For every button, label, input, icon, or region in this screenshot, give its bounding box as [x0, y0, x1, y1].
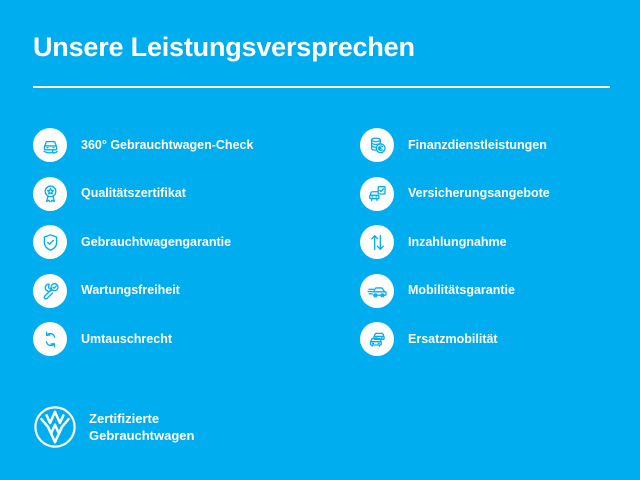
benefit-label: Gebrauchtwagengarantie [81, 235, 231, 250]
benefit-item-gebrauchtwagengarantie[interactable]: Gebrauchtwagengarantie [33, 225, 343, 259]
benefit-item-mobilitaetsgarantie[interactable]: Mobilitätsgarantie [360, 274, 630, 308]
benefit-label: Wartungsfreiheit [81, 283, 180, 298]
car-document-check-icon [360, 177, 394, 211]
header-divider [33, 86, 610, 88]
benefits-column-right: Finanzdienstleistungen Versicherungsange… [360, 128, 630, 371]
benefit-item-qualitaetszertifikat[interactable]: Qualitätszertifikat [33, 177, 343, 211]
benefit-item-inzahlungnahme[interactable]: Inzahlungnahme [360, 225, 630, 259]
page-title: Unsere Leistungsversprechen [33, 30, 610, 64]
wrench-check-icon [33, 274, 67, 308]
exchange-arrows-icon [33, 322, 67, 356]
brand-text-line2: Gebrauchtwagen [89, 428, 194, 443]
promo-panel: Unsere Leistungsversprechen 360° Gebrauc… [0, 0, 640, 480]
shield-check-icon [33, 225, 67, 259]
benefit-label: Versicherungsangebote [408, 186, 550, 201]
benefit-item-ersatzmobilitaet[interactable]: Ersatzmobilität [360, 322, 630, 356]
benefit-item-360-check[interactable]: 360° Gebrauchtwagen-Check [33, 128, 343, 162]
header: Unsere Leistungsversprechen [33, 30, 610, 64]
benefit-label: Umtauschrecht [81, 332, 172, 347]
benefit-item-wartungsfreiheit[interactable]: Wartungsfreiheit [33, 274, 343, 308]
benefit-item-versicherungsangebote[interactable]: Versicherungsangebote [360, 177, 630, 211]
benefit-label: 360° Gebrauchtwagen-Check [81, 138, 253, 153]
benefit-item-finanzdienstleistungen[interactable]: Finanzdienstleistungen [360, 128, 630, 162]
benefit-label: Mobilitätsgarantie [408, 283, 515, 298]
brand-text-line1: Zertifizierte [89, 411, 159, 426]
arrows-up-down-icon [360, 225, 394, 259]
benefit-label: Qualitätszertifikat [81, 186, 186, 201]
car-360-check-icon [33, 128, 67, 162]
benefit-label: Finanzdienstleistungen [408, 138, 547, 153]
benefit-label: Ersatzmobilität [408, 332, 498, 347]
brand-text: Zertifizierte Gebrauchtwagen [89, 410, 194, 444]
volkswagen-logo [33, 405, 77, 449]
benefits-column-left: 360° Gebrauchtwagen-Check Qualitätszerti… [33, 128, 343, 371]
benefit-label: Inzahlungnahme [408, 235, 507, 250]
brand-lockup: Zertifizierte Gebrauchtwagen [33, 405, 194, 449]
award-rosette-icon [33, 177, 67, 211]
coins-euro-icon [360, 128, 394, 162]
car-moving-icon [360, 274, 394, 308]
benefit-item-umtauschrecht[interactable]: Umtauschrecht [33, 322, 343, 356]
two-cars-icon [360, 322, 394, 356]
